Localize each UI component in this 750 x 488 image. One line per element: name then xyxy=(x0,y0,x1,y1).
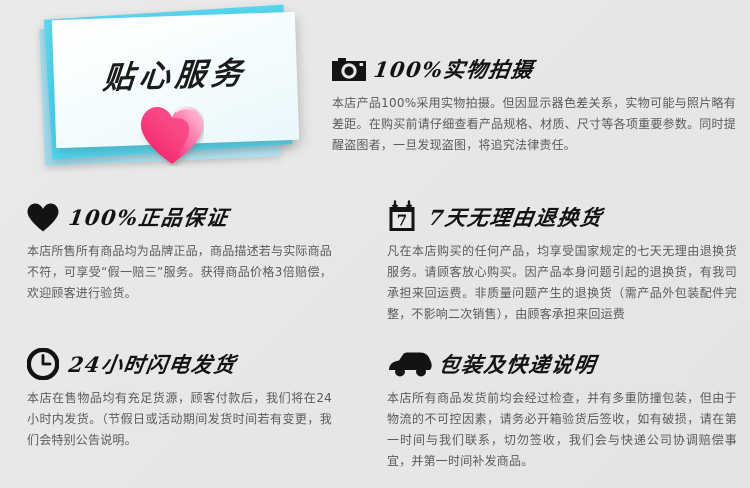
feature-shipping-speed-title: 24小时闪电发货 xyxy=(67,349,238,379)
feature-photo-body: 本店产品100%采用实物拍摄。但因显示器色差关系，实物可能与照片略有差距。在购买… xyxy=(332,93,736,156)
feature-shipping-speed-body: 本店在售物品均有充足货源，顾客付款后，我们将在24小时内发货。（节假日或活动期间… xyxy=(27,388,332,451)
camera-icon xyxy=(332,52,372,86)
feature-shipping-speed: 24小时闪电发货 本店在售物品均有充足货源，顾客付款后，我们将在24小时内发货。… xyxy=(27,345,332,451)
clock-icon xyxy=(27,347,67,381)
promo-page: 贴心服务 xyxy=(0,0,750,488)
feature-packaging-body: 本店所有商品发货前均会经过检查，并有多重防撞包装，但由于物流的不可控因素，请务必… xyxy=(387,388,737,472)
feature-packaging: 包装及快递说明 本店所有商品发货前均会经过检查，并有多重防撞包装，但由于物流的不… xyxy=(387,345,737,472)
feature-return-header: 7 7天无理由退换货 xyxy=(387,198,737,236)
feature-genuine-header: 100%正品保证 xyxy=(27,198,332,236)
feature-packaging-title: 包装及快递说明 xyxy=(437,349,599,379)
calendar-day-number: 7 xyxy=(397,212,407,230)
feature-return-body: 凡在本店购买的任何产品，均享受国家规定的七天无理由退换货服务。请顾客放心购买。因… xyxy=(387,241,737,325)
heart-icon xyxy=(27,200,67,234)
feature-photo-header: 100%实物拍摄 xyxy=(332,50,736,88)
heart-icon xyxy=(140,104,204,166)
feature-return-title: 7天无理由退换货 xyxy=(427,202,605,232)
feature-genuine-body: 本店所售所有商品均为品牌正品，商品描述若与实际商品不符，可享受“假一赔三”服务。… xyxy=(27,241,332,304)
calendar-icon: 7 xyxy=(387,200,427,234)
truck-icon xyxy=(387,347,437,381)
feature-photo-title: 100%实物拍摄 xyxy=(372,54,536,84)
feature-genuine-title: 100%正品保证 xyxy=(67,202,231,232)
feature-shipping-speed-header: 24小时闪电发货 xyxy=(27,345,332,383)
feature-photo: 100%实物拍摄 本店产品100%采用实物拍摄。但因显示器色差关系，实物可能与照… xyxy=(332,50,736,156)
hero-card-stack: 贴心服务 xyxy=(0,0,340,190)
feature-genuine: 100%正品保证 本店所售所有商品均为品牌正品，商品描述若与实际商品不符，可享受… xyxy=(27,198,332,304)
feature-return: 7 7天无理由退换货 凡在本店购买的任何产品，均享受国家规定的七天无理由退换货服… xyxy=(387,198,737,325)
feature-packaging-header: 包装及快递说明 xyxy=(387,345,737,383)
hero-card-title: 贴心服务 xyxy=(52,46,299,100)
